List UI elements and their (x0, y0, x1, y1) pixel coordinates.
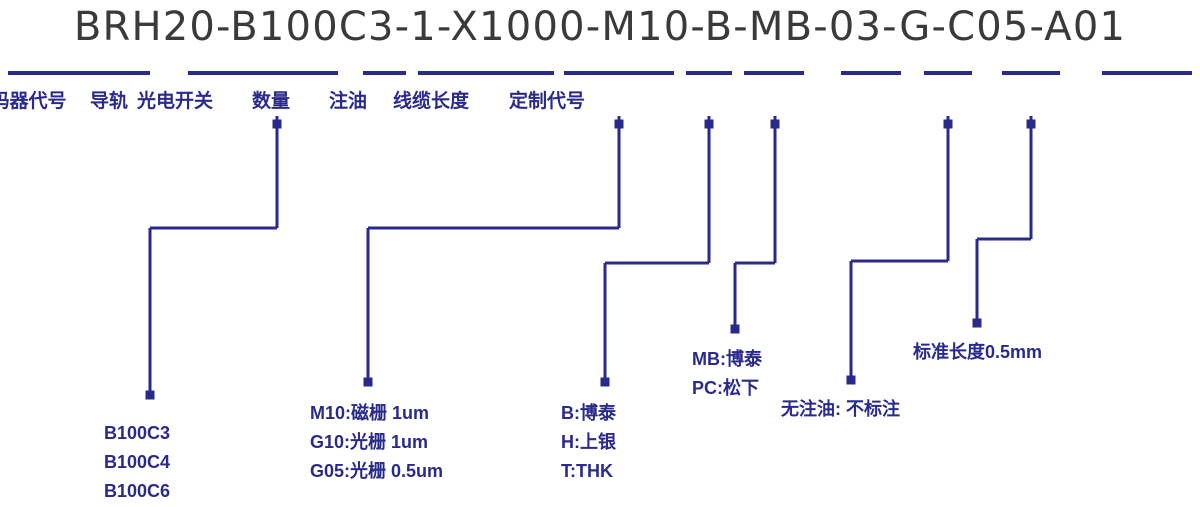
body-model-connector-end-node (146, 391, 155, 400)
segment-underline-3 (418, 71, 554, 75)
note-cable-length: 标准长度0.5mm (913, 338, 1042, 367)
note-rail: B:博泰H:上银T:THK (561, 399, 616, 486)
note-line: G05:光栅 0.5um (310, 457, 443, 486)
segment-label-5: 导轨 (90, 92, 128, 111)
segment-underline-5 (686, 71, 732, 75)
note-line: H:上银 (561, 428, 616, 457)
segment-label-4: 编码器代号 (0, 92, 67, 111)
encoder-connector-end-node (364, 378, 373, 387)
note-oiling: 无注油: 不标注 (781, 395, 900, 424)
model-code-title: BRH20-B100C3-1-X1000-M10-B-MB-03-G-C05-A… (0, 4, 1200, 50)
note-line: B:博泰 (561, 399, 616, 428)
model-code-breakdown-diagram: BRH20-B100C3-1-X1000-M10-B-MB-03-G-C05-A… (0, 0, 1200, 507)
segment-stub-node-6 (771, 120, 780, 129)
segment-label-10: 定制代号 (509, 92, 585, 111)
note-line: PC:松下 (692, 374, 762, 403)
photoswitch-connector-end-node (731, 325, 740, 334)
segment-stub-node-8 (944, 120, 953, 129)
note-encoder: M10:磁栅 1umG10:光栅 1umG05:光栅 0.5um (310, 399, 443, 486)
cable-length-connector-end-node (973, 319, 982, 328)
note-body-model: B100C3B100C4B100C6 (104, 419, 170, 506)
segment-label-9: 线缆长度 (393, 92, 469, 111)
note-line: 标准长度0.5mm (913, 338, 1042, 367)
note-line: M10:磁栅 1um (310, 399, 443, 428)
rail-connector-end-node (601, 378, 610, 387)
segment-underline-10 (1102, 71, 1192, 75)
segment-stub-node-4 (615, 120, 624, 129)
segment-stub-node-9 (1027, 120, 1036, 129)
note-line: B100C6 (104, 477, 170, 506)
segment-stub-node-5 (705, 120, 714, 129)
segment-underline-9 (1002, 71, 1060, 75)
note-line: B100C3 (104, 419, 170, 448)
segment-label-7: 数量 (252, 92, 290, 111)
segment-label-8: 注油 (329, 92, 367, 111)
segment-underline-4 (564, 71, 674, 75)
segment-stub-node-1 (273, 120, 282, 129)
segment-underline-0 (8, 71, 150, 75)
segment-underline-7 (841, 71, 901, 75)
segment-underline-1 (188, 71, 338, 75)
note-photoswitch: MB:博泰PC:松下 (692, 345, 762, 403)
note-line: MB:博泰 (692, 345, 762, 374)
note-line: T:THK (561, 457, 616, 486)
note-line: B100C4 (104, 448, 170, 477)
segment-underline-8 (924, 71, 972, 75)
note-line: G10:光栅 1um (310, 428, 443, 457)
segment-underline-6 (744, 71, 804, 75)
segment-label-6: 光电开关 (137, 92, 213, 111)
oiling-connector-end-node (847, 376, 856, 385)
segment-underline-2 (363, 71, 406, 75)
note-line: 无注油: 不标注 (781, 395, 900, 424)
